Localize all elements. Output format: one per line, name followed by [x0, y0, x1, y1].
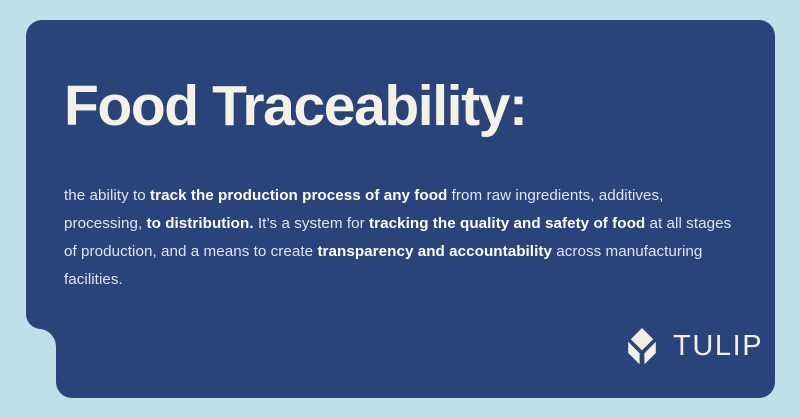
tulip-wordmark: TULIP	[673, 332, 763, 361]
card-content: Food Traceability: the ability to track …	[0, 0, 800, 418]
tulip-cube-icon	[622, 326, 662, 366]
tulip-logo-lockup: TULIP	[622, 326, 763, 366]
emphasis-run: track the production process of any food	[150, 187, 447, 204]
text-run: It’s a system for	[254, 215, 369, 232]
text-run: the ability to	[64, 187, 150, 204]
infographic-canvas: Food Traceability: the ability to track …	[0, 0, 800, 418]
page-title: Food Traceability:	[64, 74, 527, 138]
description-paragraph: the ability to track the production proc…	[64, 182, 740, 294]
emphasis-run: to distribution.	[147, 215, 254, 232]
emphasis-run: transparency and accountability	[317, 243, 552, 260]
emphasis-run: tracking the quality and safety of food	[369, 215, 645, 232]
